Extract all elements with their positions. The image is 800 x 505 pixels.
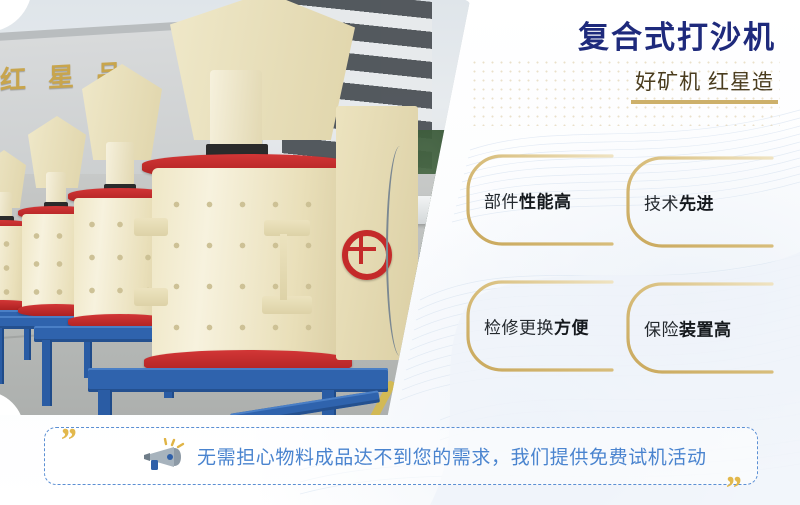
promo-banner-page: 红星品 — [0, 0, 800, 505]
feature-4-plain: 保险 — [644, 321, 679, 340]
feature-label-3: 检修更换方便 — [484, 314, 589, 339]
feature-item-3[interactable]: 检修更换方便 — [462, 278, 618, 374]
promo-banner-text: 无需担心物料成品达不到您的需求，我们提供免费试机活动 — [197, 443, 707, 470]
feature-3-bold: 方便 — [554, 319, 589, 338]
headline-block: 复合式打沙机 好矿机 红星造 — [470, 20, 788, 104]
feature-item-2[interactable]: 技术先进 — [622, 154, 778, 250]
feature-label-1: 部件性能高 — [484, 188, 572, 213]
feature-label-4: 保险装置高 — [644, 316, 732, 341]
quote-mark-open: ” — [59, 424, 74, 458]
feature-item-1[interactable]: 部件性能高 — [462, 152, 618, 248]
photo-handwheel — [342, 230, 392, 280]
feature-item-4[interactable]: 保险装置高 — [622, 280, 778, 376]
feature-3-plain: 检修更换 — [484, 319, 554, 338]
feature-1-bold: 性能高 — [519, 193, 572, 212]
page-title: 复合式打沙机 — [470, 20, 788, 57]
feature-list: 部件性能高 技术先进 — [462, 152, 792, 387]
feature-label-2: 技术先进 — [644, 190, 714, 215]
megaphone-icon — [141, 438, 187, 474]
photo-machine-unit-main — [150, 50, 400, 410]
product-photo: 红星品 — [0, 0, 470, 415]
promo-banner[interactable]: ” ” 无需担心物料成品达不到您的需求，我们提供免费试机活动 — [44, 427, 758, 485]
feature-2-bold: 先进 — [679, 195, 714, 214]
feature-1-plain: 部件 — [484, 193, 519, 212]
feature-2-plain: 技术 — [644, 195, 679, 214]
feature-4-bold: 装置高 — [679, 321, 732, 340]
page-subtitle: 好矿机 红星造 — [631, 66, 778, 104]
quote-mark-close: ” — [724, 472, 739, 505]
